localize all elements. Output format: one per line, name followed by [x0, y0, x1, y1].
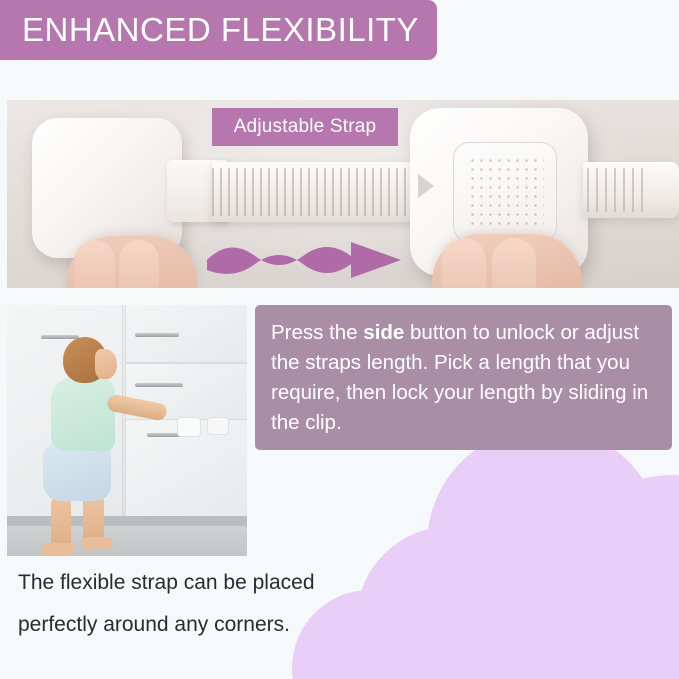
instruction-box: Press the side button to unlock or adjus… — [255, 305, 672, 450]
installed-lock-b — [207, 417, 229, 435]
header-banner: ENHANCED FLEXIBILITY — [0, 0, 437, 60]
instruction-text: Press the side button to unlock or adjus… — [271, 318, 656, 438]
child-shirt — [51, 377, 115, 451]
child-shorts — [43, 443, 111, 501]
grip-dots-texture — [468, 156, 544, 230]
instruction-part1: Press the — [271, 321, 363, 344]
bottom-caption: The flexible strap can be placed perfect… — [18, 562, 418, 646]
child-face — [95, 349, 117, 379]
cabinet-handle-1 — [41, 335, 79, 339]
toddler-cabinet-photo — [7, 305, 247, 556]
bottom-caption-line1: The flexible strap can be placed — [18, 562, 418, 604]
side-button-triangle-icon — [418, 174, 434, 198]
adjustable-strap-label-text: Adjustable Strap — [234, 116, 377, 138]
instruction-bold-word: side — [363, 321, 404, 344]
hand-left — [67, 236, 197, 288]
installed-lock-a — [177, 417, 201, 437]
adjustable-strap-label: Adjustable Strap — [212, 108, 398, 146]
lock-release-button — [453, 142, 557, 242]
strap-tail-ribs — [587, 168, 647, 212]
cabinet-handle-3 — [135, 383, 183, 387]
cabinet-handle-2 — [135, 333, 179, 337]
page-title: ENHANCED FLEXIBILITY — [22, 11, 419, 49]
child-foot-right — [81, 537, 113, 549]
bottom-caption-line2: perfectly around any corners. — [18, 604, 418, 646]
child-foot-left — [41, 543, 75, 555]
wavy-arrow-icon — [203, 230, 418, 280]
strap-tail-right — [583, 162, 679, 218]
hand-right — [432, 234, 582, 288]
